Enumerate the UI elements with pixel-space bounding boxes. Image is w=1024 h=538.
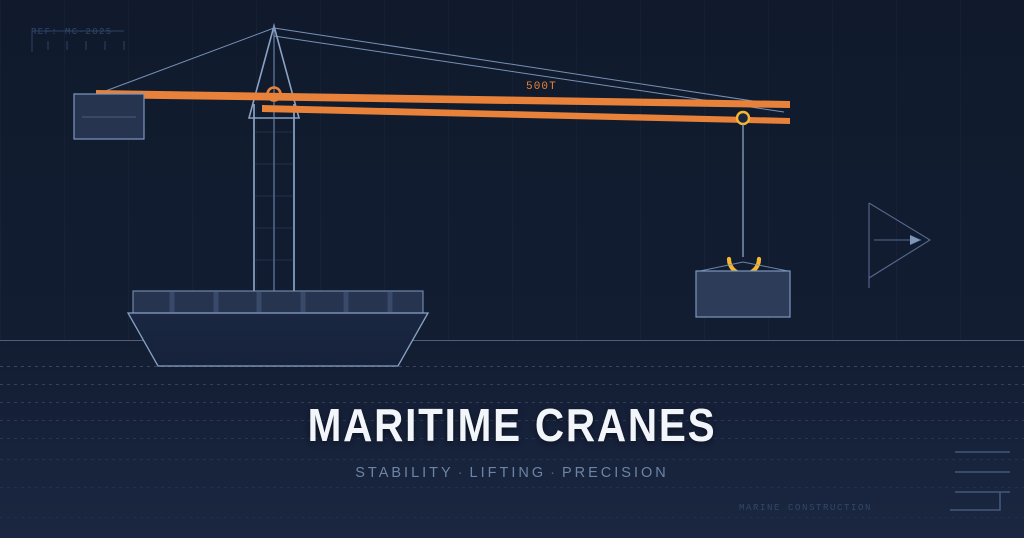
subtitle-separator: · <box>546 465 562 481</box>
trolley-ring <box>737 112 749 124</box>
direction-arrow <box>869 203 930 288</box>
subtitle-item: STABILITY <box>355 465 453 481</box>
subtitle-separator: · <box>454 465 470 481</box>
trolley-and-hoist <box>729 112 759 274</box>
subtitle: STABILITY·LIFTING·PRECISION <box>0 465 1024 481</box>
load-capacity-label: 500T <box>526 81 557 93</box>
maritime-crane-poster: REF: MC-2025 500T MARITIME CRANES STABIL… <box>0 0 1024 538</box>
corner-label: MARINE CONSTRUCTION <box>739 503 872 513</box>
cargo-container <box>696 262 790 317</box>
subtitle-item: LIFTING <box>470 465 547 481</box>
barge-hull <box>128 291 428 366</box>
subtitle-item: PRECISION <box>562 465 669 481</box>
reference-tag: REF: MC-2025 <box>31 27 113 37</box>
lattice-tower <box>249 26 299 300</box>
counterweight-block <box>74 94 144 139</box>
title-block: MARITIME CRANES STABILITY·LIFTING·PRECIS… <box>0 402 1024 481</box>
page-title: MARITIME CRANES <box>61 402 962 448</box>
double-beam-jib <box>96 88 790 125</box>
